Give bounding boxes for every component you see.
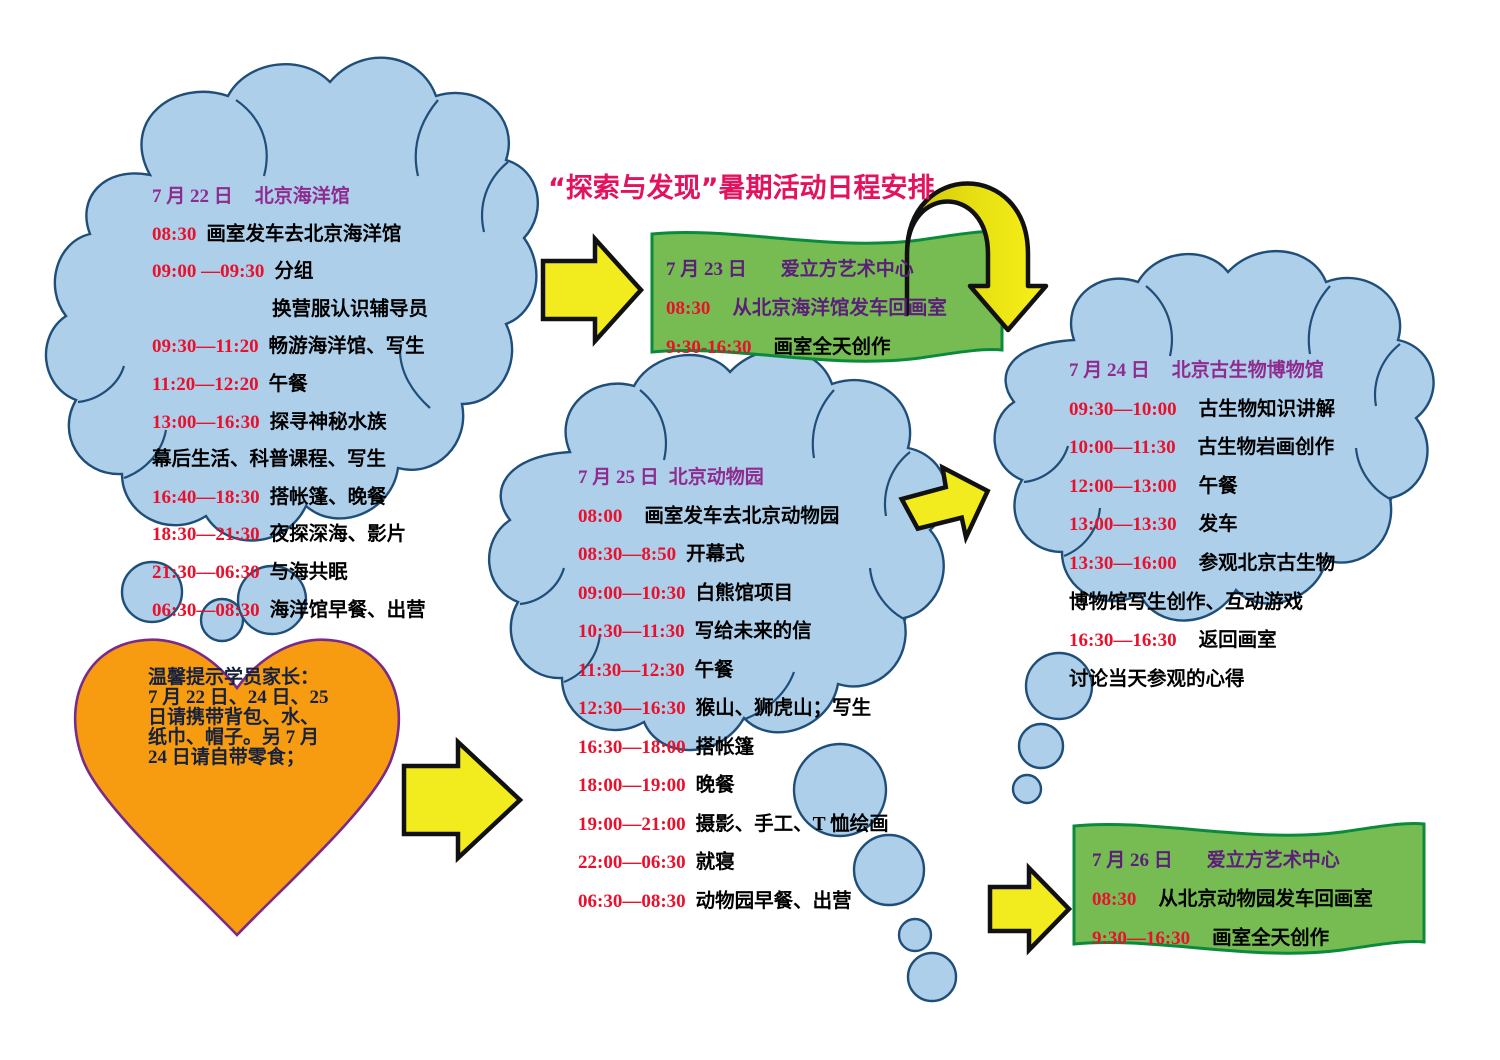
- row-activity: 畅游海洋馆、写生: [269, 336, 425, 357]
- row-activity: 午餐: [269, 374, 308, 395]
- schedule-row: 06:30—08:30海洋馆早餐、出营: [152, 593, 482, 622]
- row-activity: 从北京动物园发车回画室: [1158, 889, 1373, 910]
- row-time: 06:30—08:30: [152, 600, 260, 621]
- row-time: 9:30-16:30: [666, 337, 751, 358]
- schedule-header: 7 月 25 日北京动物园: [578, 462, 918, 489]
- row-time: 08:30: [1092, 889, 1136, 910]
- row-activity: 画室全天创作: [1212, 928, 1329, 949]
- thought-bubble: [908, 953, 956, 1001]
- schedule-row: 13:00—16:30探寻神秘水族: [152, 405, 482, 434]
- date-label: 7 月 23 日: [666, 259, 747, 280]
- row-time: 11:30—12:30: [578, 660, 685, 681]
- schedule-header: 7 月 26 日爱立方艺术中心: [1092, 845, 1422, 872]
- schedule-studio-23: 7 月 23 日爱立方艺术中心 08:30从北京海洋馆发车回画室 9:30-16…: [666, 254, 996, 369]
- schedule-row: 9:30-16:30画室全天创作: [666, 330, 996, 359]
- notice-line: 温馨提示学员家长：: [148, 667, 319, 688]
- row-time: 13:30—16:00: [1069, 553, 1177, 574]
- schedule-row: 换营服认识辅导员: [152, 292, 482, 321]
- schedule-row: 16:30—18:00搭帐篷: [578, 730, 918, 759]
- row-time: 16:40—18:30: [152, 487, 260, 508]
- row-activity: 画室全天创作: [773, 337, 890, 358]
- venue-label: 爱立方艺术中心: [1207, 850, 1340, 871]
- venue-label: 爱立方艺术中心: [781, 259, 914, 280]
- row-activity: 参观北京古生物: [1199, 553, 1336, 574]
- row-time: 21:30—06:30: [152, 562, 260, 583]
- date-label: 7 月 22 日: [152, 186, 233, 207]
- heart-notice-text: 温馨提示学员家长： 7 月 22 日、24 日、25 日请携带背包、水、 纸巾、…: [148, 668, 363, 768]
- schedule-museum: 7 月 24 日北京古生物博物馆 09:30—10:00古生物知识讲解 10:0…: [1069, 355, 1409, 700]
- row-time: 09:30—10:00: [1069, 399, 1177, 420]
- row-activity: 动物园早餐、出营: [696, 891, 852, 912]
- row-time: 06:30—08:30: [578, 891, 686, 912]
- schedule-row: 09:30—11:20畅游海洋馆、写生: [152, 329, 482, 358]
- schedule-row: 10:30—11:30写给未来的信: [578, 614, 918, 643]
- schedule-row: 18:00—19:00晚餐: [578, 768, 918, 797]
- row-activity: 讨论当天参观的心得: [1069, 669, 1245, 690]
- venue-label: 北京古生物博物馆: [1172, 360, 1324, 381]
- thought-bubble: [1013, 775, 1041, 803]
- schedule-row: 08:30画室发车去北京海洋馆: [152, 217, 482, 246]
- notice-line: 24 日请自带零食；: [148, 747, 305, 768]
- row-activity: 换营服认识辅导员: [272, 299, 428, 320]
- row-activity: 古生物岩画创作: [1198, 437, 1335, 458]
- row-activity: 与海共眠: [270, 562, 348, 583]
- row-activity: 幕后生活、科普课程、写生: [152, 449, 386, 470]
- row-time: 09:00—10:30: [578, 583, 686, 604]
- page-title: “探索与发现”暑期活动日程安排: [548, 166, 935, 205]
- row-activity: 返回画室: [1199, 630, 1277, 651]
- row-activity: 博物馆写生创作、互动游戏: [1069, 592, 1303, 613]
- row-activity: 开幕式: [686, 544, 745, 565]
- schedule-zoo: 7 月 25 日北京动物园 08:00画室发车去北京动物园 08:30—8:50…: [578, 462, 918, 922]
- row-time: 09:30—11:20: [152, 336, 259, 357]
- row-time: 12:00—13:00: [1069, 476, 1177, 497]
- schedule-row: 12:00—13:00午餐: [1069, 469, 1409, 498]
- poster-canvas: “探索与发现”暑期活动日程安排 7 月 22 日北京海洋馆 08:30画室发车去…: [0, 0, 1500, 1060]
- row-activity: 猴山、狮虎山；写生: [696, 698, 872, 719]
- notice-line: 纸巾、帽子。另 7 月: [148, 727, 319, 748]
- row-activity: 分组: [274, 261, 313, 282]
- thought-bubble: [1019, 724, 1063, 768]
- row-activity: 从北京海洋馆发车回画室: [732, 298, 947, 319]
- schedule-row: 16:40—18:30搭帐篷、晚餐: [152, 480, 482, 509]
- schedule-row: 22:00—06:30就寝: [578, 845, 918, 874]
- row-activity: 海洋馆早餐、出营: [270, 600, 426, 621]
- row-time: 10:00—11:30: [1069, 437, 1176, 458]
- venue-label: 北京动物园: [669, 467, 764, 488]
- row-time: 13:00—16:30: [152, 412, 260, 433]
- schedule-row: 11:20—12:20午餐: [152, 367, 482, 396]
- row-time: 11:20—12:20: [152, 374, 259, 395]
- row-activity: 搭帐篷: [696, 737, 755, 758]
- schedule-header: 7 月 22 日北京海洋馆: [152, 181, 482, 208]
- schedule-row: 9:30—16:30画室全天创作: [1092, 921, 1422, 950]
- row-activity: 探寻神秘水族: [270, 412, 387, 433]
- schedule-studio-26: 7 月 26 日爱立方艺术中心 08:30从北京动物园发车回画室 9:30—16…: [1092, 845, 1422, 960]
- row-activity: 白熊馆项目: [696, 583, 794, 604]
- row-time: 9:30—16:30: [1092, 928, 1190, 949]
- row-time: 18:00—19:00: [578, 775, 686, 796]
- schedule-row: 16:30—16:30返回画室: [1069, 623, 1409, 652]
- notice-line: 日请携带背包、水、: [148, 707, 319, 728]
- row-activity: 晚餐: [696, 775, 735, 796]
- row-activity: 画室发车去北京动物园: [644, 506, 839, 527]
- row-activity: 搭帐篷、晚餐: [270, 487, 387, 508]
- row-time: 18:30—21:30: [152, 524, 260, 545]
- schedule-row: 09:00—10:30白熊馆项目: [578, 576, 918, 605]
- schedule-aquarium: 7 月 22 日北京海洋馆 08:30画室发车去北京海洋馆 09:00 —09:…: [152, 181, 482, 630]
- row-activity: 午餐: [695, 660, 734, 681]
- schedule-row: 09:30—10:00古生物知识讲解: [1069, 392, 1409, 421]
- row-time: 10:30—11:30: [578, 621, 685, 642]
- schedule-row: 博物馆写生创作、互动游戏: [1069, 585, 1409, 614]
- schedule-row: 13:30—16:00参观北京古生物: [1069, 546, 1409, 575]
- row-time: 08:30: [152, 224, 196, 245]
- date-label: 7 月 26 日: [1092, 850, 1173, 871]
- row-activity: 夜探深海、影片: [270, 524, 407, 545]
- row-activity: 古生物知识讲解: [1199, 399, 1336, 420]
- row-time: 12:30—16:30: [578, 698, 686, 719]
- schedule-row: 10:00—11:30古生物岩画创作: [1069, 430, 1409, 459]
- arrow-to-banner26: [990, 868, 1069, 950]
- schedule-row: 讨论当天参观的心得: [1069, 662, 1409, 691]
- row-time: 16:30—16:30: [1069, 630, 1177, 651]
- schedule-row: 12:30—16:30猴山、狮虎山；写生: [578, 691, 918, 720]
- schedule-header: 7 月 23 日爱立方艺术中心: [666, 254, 996, 281]
- schedule-row: 13:00—13:30发车: [1069, 507, 1409, 536]
- row-time: 22:00—06:30: [578, 852, 686, 873]
- schedule-row: 08:00画室发车去北京动物园: [578, 499, 918, 528]
- row-activity: 摄影、手工、T 恤绘画: [696, 814, 889, 835]
- schedule-row: 21:30—06:30与海共眠: [152, 555, 482, 584]
- row-activity: 午餐: [1199, 476, 1238, 497]
- schedule-row: 06:30—08:30动物园早餐、出营: [578, 884, 918, 913]
- notice-line: 7 月 22 日、24 日、25: [148, 687, 329, 708]
- row-time: 19:00—21:00: [578, 814, 686, 835]
- row-time: 08:00: [578, 506, 622, 527]
- row-time: 09:00 —09:30: [152, 261, 264, 282]
- schedule-row: 09:00 —09:30分组: [152, 254, 482, 283]
- schedule-row: 08:30从北京动物园发车回画室: [1092, 882, 1422, 911]
- date-label: 7 月 25 日: [578, 467, 659, 488]
- venue-label: 北京海洋馆: [255, 186, 350, 207]
- schedule-row: 18:30—21:30夜探深海、影片: [152, 517, 482, 546]
- schedule-row: 08:30—8:50开幕式: [578, 537, 918, 566]
- row-activity: 就寝: [696, 852, 735, 873]
- schedule-header: 7 月 24 日北京古生物博物馆: [1069, 355, 1409, 382]
- row-time: 13:00—13:30: [1069, 514, 1177, 535]
- schedule-row: 19:00—21:00摄影、手工、T 恤绘画: [578, 807, 918, 836]
- row-time: 08:30—8:50: [578, 544, 676, 565]
- arrow-to-banner23: [543, 239, 641, 341]
- date-label: 7 月 24 日: [1069, 360, 1150, 381]
- row-activity: 画室发车去北京海洋馆: [206, 224, 401, 245]
- schedule-row: 08:30从北京海洋馆发车回画室: [666, 291, 996, 320]
- arrow-heart-to-zoo: [404, 742, 520, 858]
- row-activity: 写给未来的信: [695, 621, 812, 642]
- row-activity: 发车: [1199, 514, 1238, 535]
- row-time: 16:30—18:00: [578, 737, 686, 758]
- schedule-row: 幕后生活、科普课程、写生: [152, 442, 482, 471]
- row-time: 08:30: [666, 298, 710, 319]
- schedule-row: 11:30—12:30午餐: [578, 653, 918, 682]
- thought-bubble: [899, 919, 931, 951]
